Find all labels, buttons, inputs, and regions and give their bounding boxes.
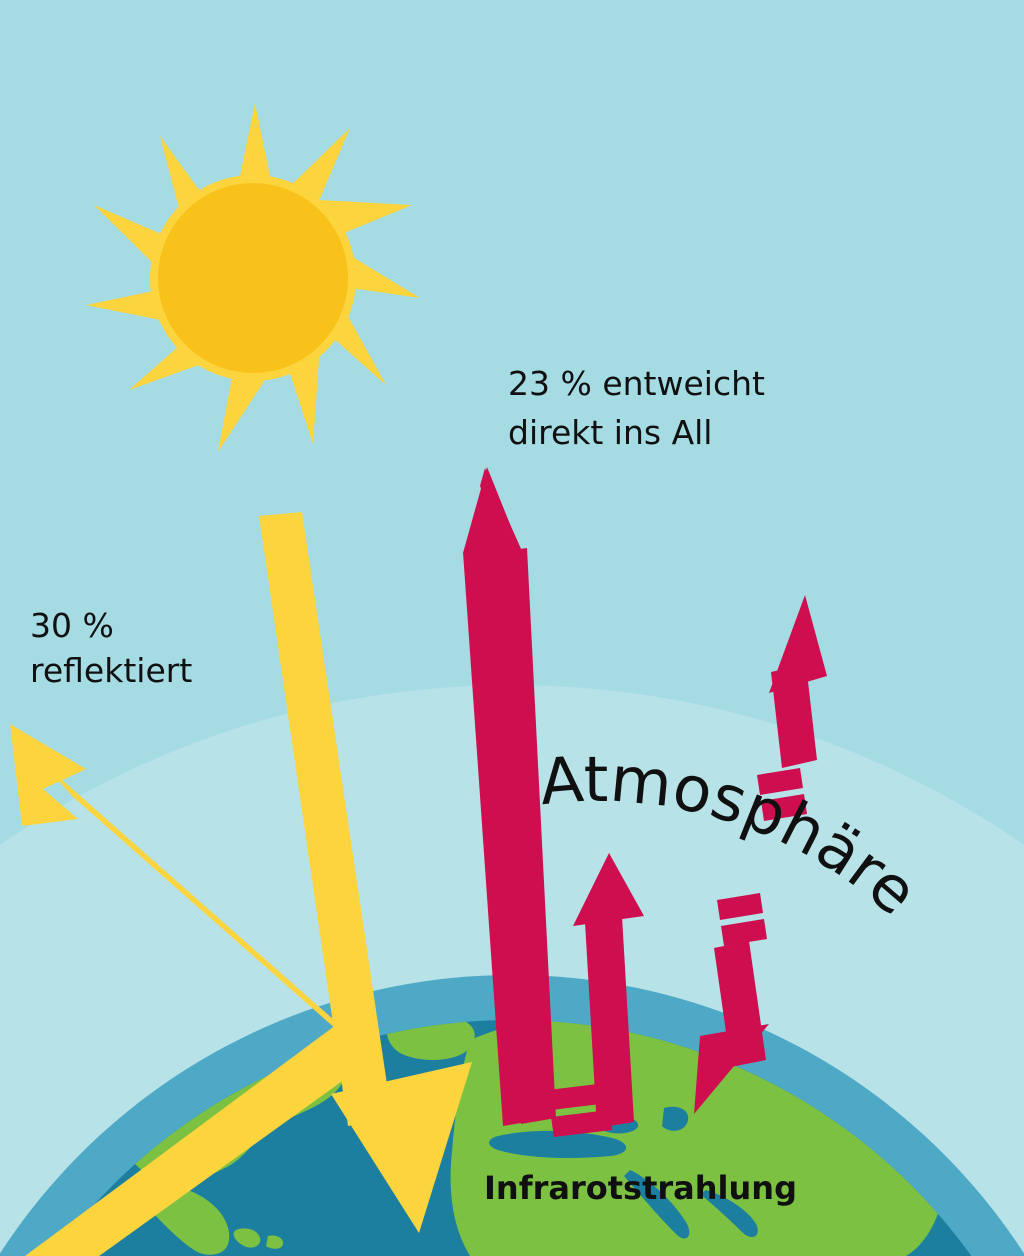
label-escaping-line1: 23 % entweicht (508, 364, 765, 403)
diagram-canvas: 30 % reflektiert 23 % entweicht direkt i… (0, 0, 1024, 1256)
label-infrared: Infrarotstrahlung (484, 1169, 797, 1207)
greenhouse-effect-diagram: 30 % reflektiert 23 % entweicht direkt i… (0, 0, 1024, 1256)
label-escaping-line2: direkt ins All (508, 413, 712, 452)
sun-core (158, 183, 348, 373)
label-reflected-line2: reflektiert (30, 651, 192, 690)
label-reflected-line1: 30 % (30, 606, 114, 645)
